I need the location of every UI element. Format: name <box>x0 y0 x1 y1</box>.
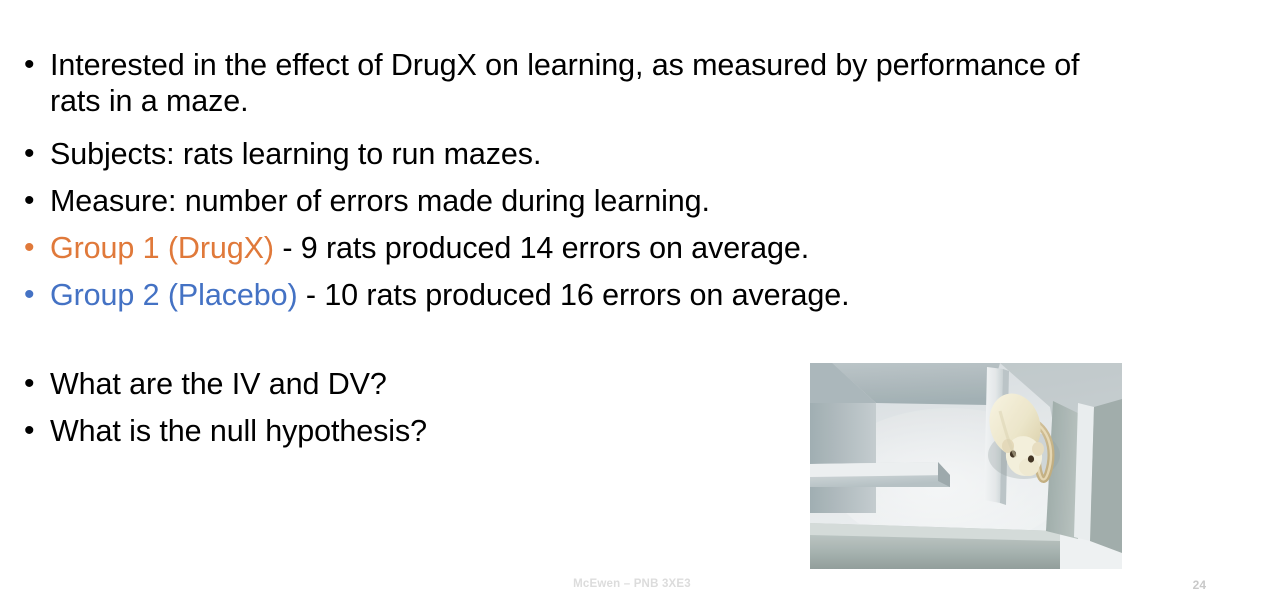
bullet-text: Interested in the effect of DrugX on lea… <box>50 47 1124 119</box>
rat-in-maze-photo <box>810 363 1122 569</box>
bullet-text: Group 2 (Placebo) - 10 rats produced 16 … <box>50 277 1124 313</box>
group2-detail: - 10 rats produced 16 errors on average. <box>298 278 850 312</box>
bullet-text: Group 1 (DrugX) - 9 rats produced 14 err… <box>50 230 1124 266</box>
bullet-dot-icon: • <box>24 183 50 219</box>
bullet-text: Subjects: rats learning to run mazes. <box>50 136 1124 172</box>
slide-page-number: 24 <box>1193 578 1206 592</box>
footer-course-note: McEwen – PNB 3XE3 <box>0 578 1264 590</box>
bullet-subjects: • Subjects: rats learning to run mazes. <box>24 136 1124 172</box>
group1-label: Group 1 (DrugX) <box>50 231 274 265</box>
bullet-dot-icon: • <box>24 136 50 172</box>
bullet-measure: • Measure: number of errors made during … <box>24 183 1124 219</box>
bullet-dot-icon: • <box>24 413 50 449</box>
bullet-spacer <box>24 324 1124 366</box>
bullet-interested: • Interested in the effect of DrugX on l… <box>24 47 1124 119</box>
group2-label: Group 2 (Placebo) <box>50 278 298 312</box>
bullet-dot-icon: • <box>24 277 50 313</box>
group1-detail: - 9 rats produced 14 errors on average. <box>274 231 809 265</box>
bullet-dot-icon: • <box>24 230 50 266</box>
bullet-dot-icon: • <box>24 366 50 402</box>
bullet-group2: • Group 2 (Placebo) - 10 rats produced 1… <box>24 277 1124 313</box>
bullet-dot-icon: • <box>24 47 50 83</box>
maze-illustration <box>810 363 1122 569</box>
bullet-text: Measure: number of errors made during le… <box>50 183 1124 219</box>
slide-canvas: • Interested in the effect of DrugX on l… <box>0 0 1264 596</box>
bullet-group1: • Group 1 (DrugX) - 9 rats produced 14 e… <box>24 230 1124 266</box>
